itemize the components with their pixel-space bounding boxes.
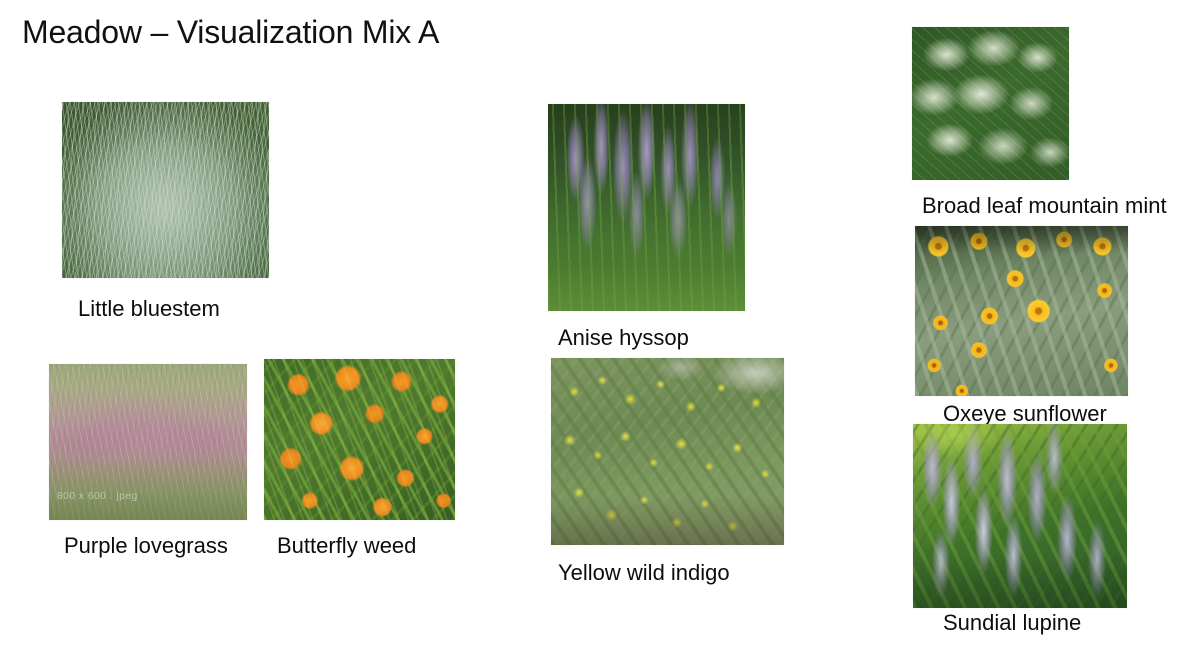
broad-leaf-mountain-mint-photo xyxy=(912,27,1069,180)
plant-card-purple-lovegrass[interactable]: 800 x 600 . jpeg Purple lovegrass xyxy=(49,364,247,558)
plant-card-oxeye-sunflower[interactable]: Oxeye sunflower xyxy=(915,226,1128,426)
sundial-lupine-photo xyxy=(913,424,1127,608)
caption-oxeye-sunflower: Oxeye sunflower xyxy=(943,402,1128,426)
plant-card-sundial-lupine[interactable]: Sundial lupine xyxy=(913,424,1127,635)
plant-card-broad-leaf-mountain-mint[interactable]: Broad leaf mountain mint xyxy=(912,27,1167,218)
caption-butterfly-weed: Butterfly weed xyxy=(277,534,455,558)
oxeye-sunflower-photo xyxy=(915,226,1128,396)
caption-yellow-wild-indigo: Yellow wild indigo xyxy=(558,561,784,585)
caption-broad-leaf-mountain-mint: Broad leaf mountain mint xyxy=(922,194,1167,218)
plant-card-yellow-wild-indigo[interactable]: Yellow wild indigo xyxy=(551,358,784,585)
page-title: Meadow – Visualization Mix A xyxy=(22,14,439,51)
plant-card-little-bluestem[interactable]: Little bluestem xyxy=(62,102,269,321)
butterfly-weed-photo xyxy=(264,359,455,520)
little-bluestem-photo xyxy=(62,102,269,278)
caption-anise-hyssop: Anise hyssop xyxy=(558,326,745,350)
slide-canvas: Meadow – Visualization Mix A Little blue… xyxy=(0,0,1200,648)
anise-hyssop-photo xyxy=(548,104,745,311)
plant-card-anise-hyssop[interactable]: Anise hyssop xyxy=(548,104,745,350)
caption-sundial-lupine: Sundial lupine xyxy=(943,611,1127,635)
caption-little-bluestem: Little bluestem xyxy=(78,297,269,321)
plant-card-butterfly-weed[interactable]: Butterfly weed xyxy=(264,359,455,558)
yellow-wild-indigo-photo xyxy=(551,358,784,545)
caption-purple-lovegrass: Purple lovegrass xyxy=(64,534,247,558)
purple-lovegrass-photo: 800 x 600 . jpeg xyxy=(49,364,247,520)
image-watermark: 800 x 600 . jpeg xyxy=(57,491,138,502)
